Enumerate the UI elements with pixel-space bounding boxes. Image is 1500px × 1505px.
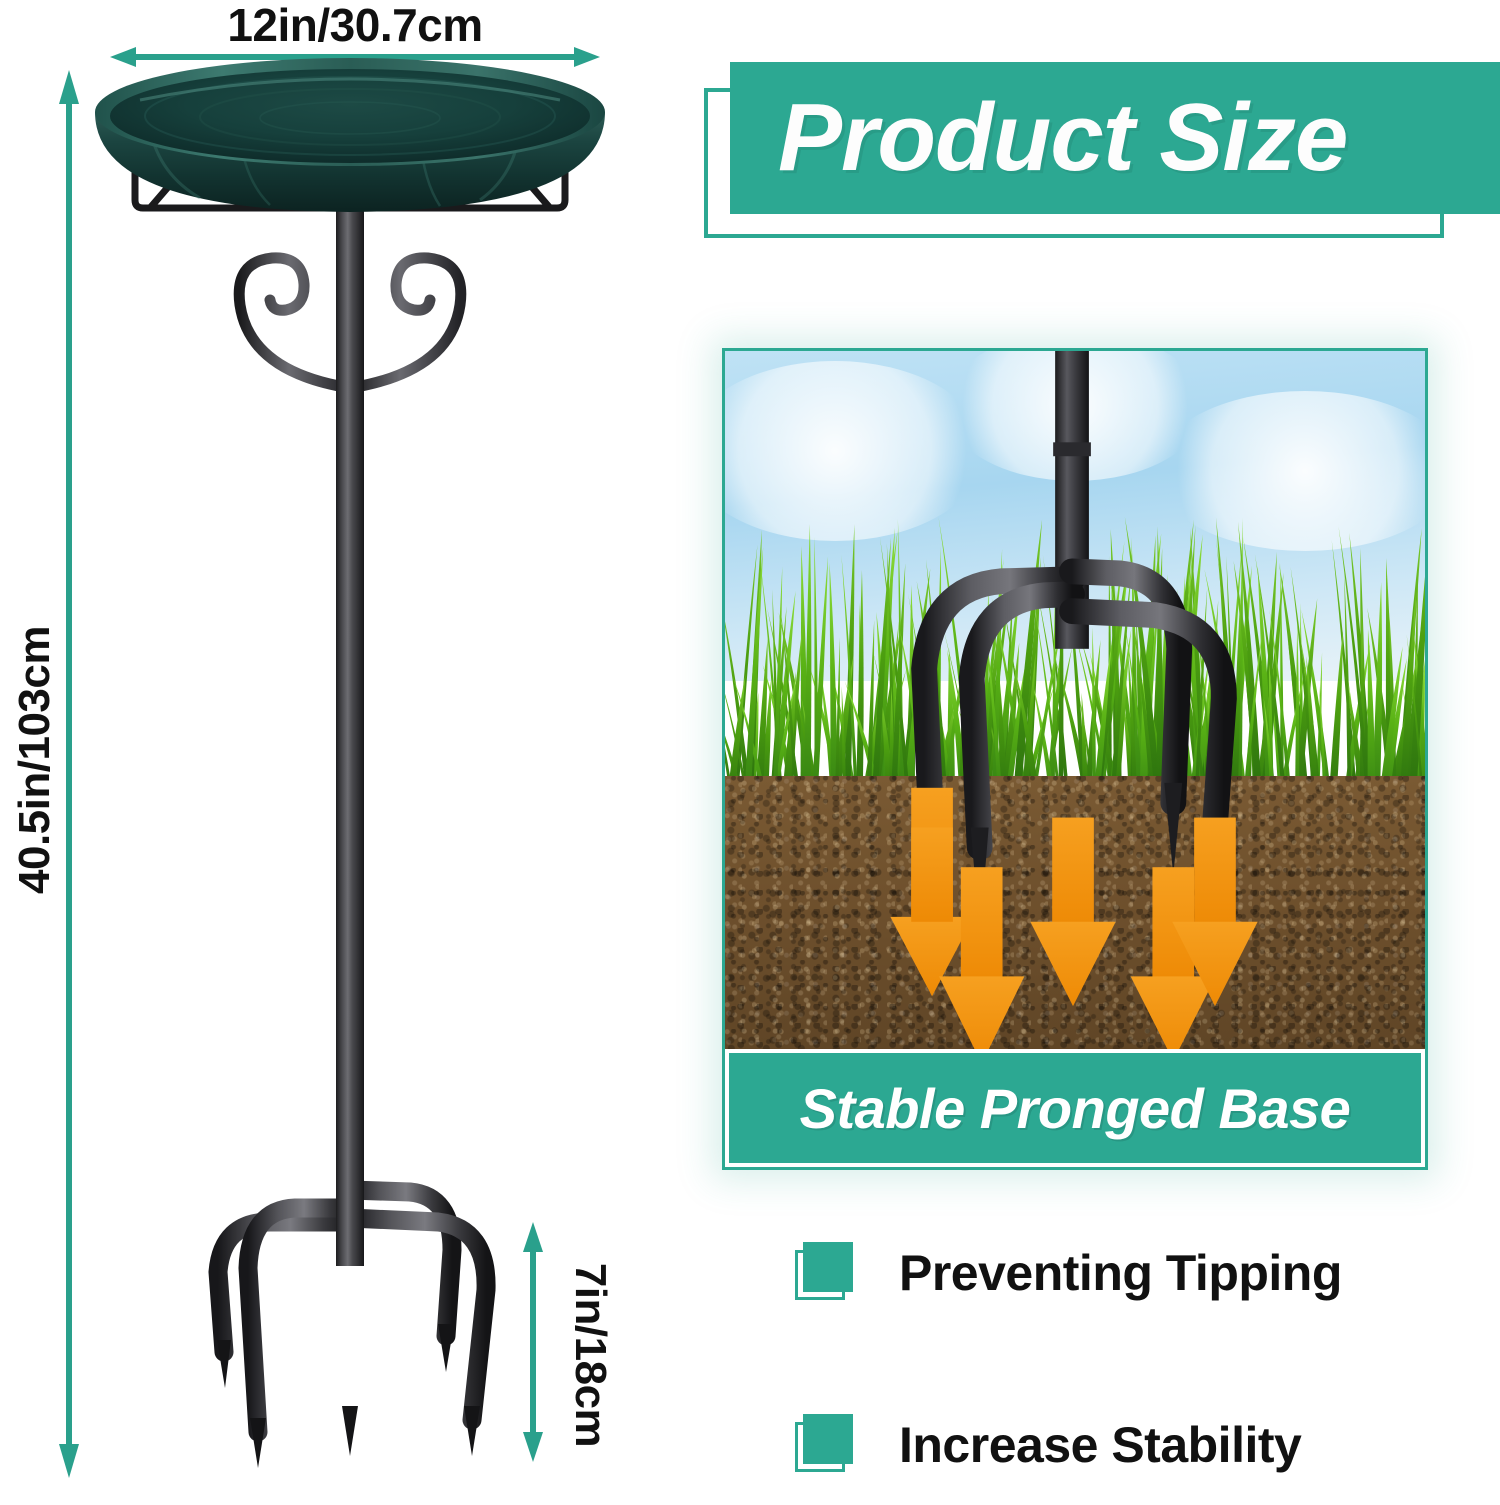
right-column: Product Size [700, 0, 1500, 1479]
feature-list: Preventing Tipping Increase Stability [795, 1218, 1495, 1500]
prong-dimension-arrow [522, 1222, 544, 1462]
stake-in-soil-graphic [725, 351, 1425, 1167]
product-size-header: Product Size [700, 62, 1500, 242]
force-arrow [1030, 818, 1115, 1007]
pronged-base-photo-panel: Stable Pronged Base [722, 348, 1428, 1170]
prong-dimension-label: 7in/18cm [565, 1205, 615, 1505]
list-item: Increase Stability [795, 1390, 1495, 1500]
product-diagram: 12in/30.7cm 40.5in/103cm [0, 0, 700, 1479]
square-bullet-icon [795, 1242, 857, 1304]
feature-label: Preventing Tipping [899, 1244, 1342, 1302]
feature-label: Increase Stability [899, 1416, 1301, 1474]
bullet-fill [803, 1242, 853, 1292]
force-arrow-group [890, 788, 1257, 1064]
photo-caption: Stable Pronged Base [725, 1049, 1425, 1167]
page-title: Product Size [730, 62, 1500, 214]
list-item: Preventing Tipping [795, 1218, 1495, 1328]
bullet-fill [803, 1414, 853, 1464]
square-bullet-icon [795, 1414, 857, 1476]
